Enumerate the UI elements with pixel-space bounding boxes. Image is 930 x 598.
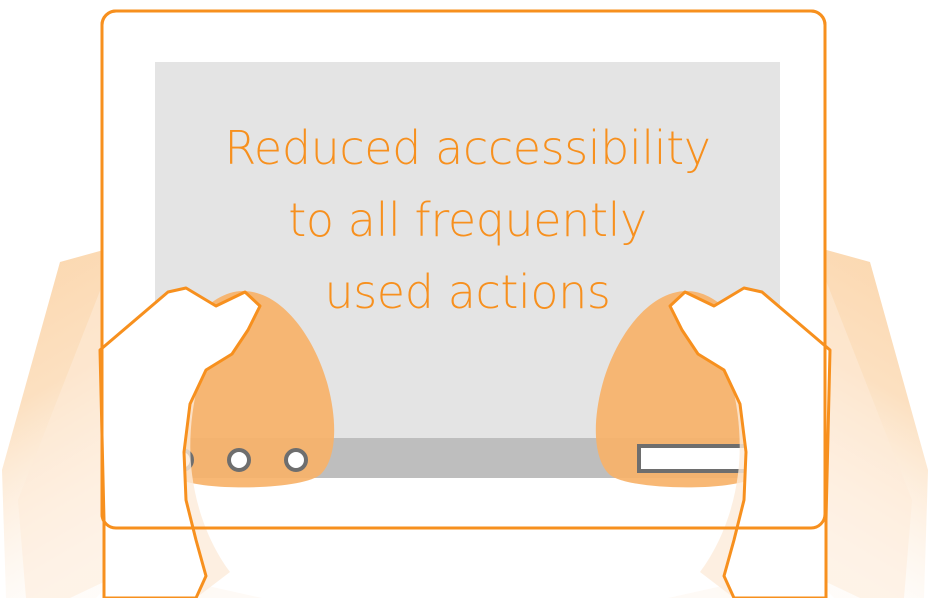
toolbar-circle-button-2[interactable] [229, 450, 249, 470]
toolbar-circle-button-3[interactable] [286, 450, 306, 470]
tablet-illustration-svg [0, 0, 930, 598]
illustration-root: Reduced accessibility to all frequently … [0, 0, 930, 598]
